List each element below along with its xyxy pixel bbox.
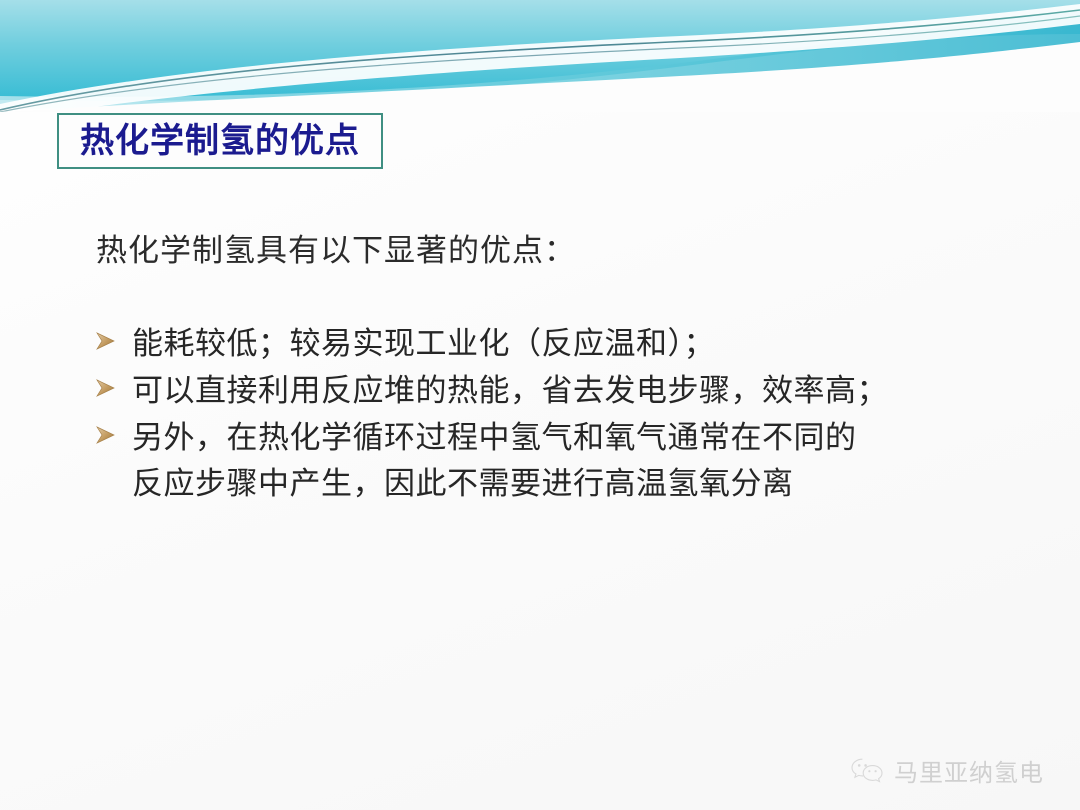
list-item-text: 另外，在热化学循环过程中氢气和氧气通常在不同的 反应步骤中产生，因此不需要进行高… [132, 415, 1026, 506]
advantages-bullet-list: 能耗较低；较易实现工业化（反应温和）； [96, 321, 1026, 506]
list-item-text: 能耗较低；较易实现工业化（反应温和）； [132, 321, 1026, 366]
watermark: 马里亚纳氢电 [850, 753, 1044, 788]
list-item: 可以直接利用反应堆的热能，省去发电步骤，效率高； [96, 368, 1026, 413]
intro-paragraph: 热化学制氢具有以下显著的优点： [96, 232, 1026, 271]
list-item-line: 能耗较低；较易实现工业化（反应温和）； [132, 321, 1026, 366]
list-item: 能耗较低；较易实现工业化（反应温和）； [96, 321, 1026, 366]
slide-canvas: 热化学制氢的优点 热化学制氢具有以下显著的优点： [0, 0, 1080, 810]
list-item-line: 反应步骤中产生，因此不需要进行高温氢氧分离 [132, 461, 1026, 506]
arrowhead-bullet-icon [96, 321, 132, 350]
arrowhead-bullet-icon [96, 415, 132, 444]
list-item: 另外，在热化学循环过程中氢气和氧气通常在不同的 反应步骤中产生，因此不需要进行高… [96, 415, 1026, 506]
list-item-line: 另外，在热化学循环过程中氢气和氧气通常在不同的 [132, 415, 1026, 460]
wechat-logo-icon [850, 756, 884, 786]
list-item-line: 可以直接利用反应堆的热能，省去发电步骤，效率高； [132, 368, 1026, 413]
slide-title-box: 热化学制氢的优点 [57, 113, 383, 169]
arrowhead-bullet-icon [96, 368, 132, 397]
header-wave-banner [0, 0, 1080, 112]
watermark-label: 马里亚纳氢电 [894, 753, 1044, 788]
page-title: 热化学制氢的优点 [80, 124, 360, 158]
list-item-text: 可以直接利用反应堆的热能，省去发电步骤，效率高； [132, 368, 1026, 413]
slide-body: 热化学制氢具有以下显著的优点： [96, 232, 1026, 508]
